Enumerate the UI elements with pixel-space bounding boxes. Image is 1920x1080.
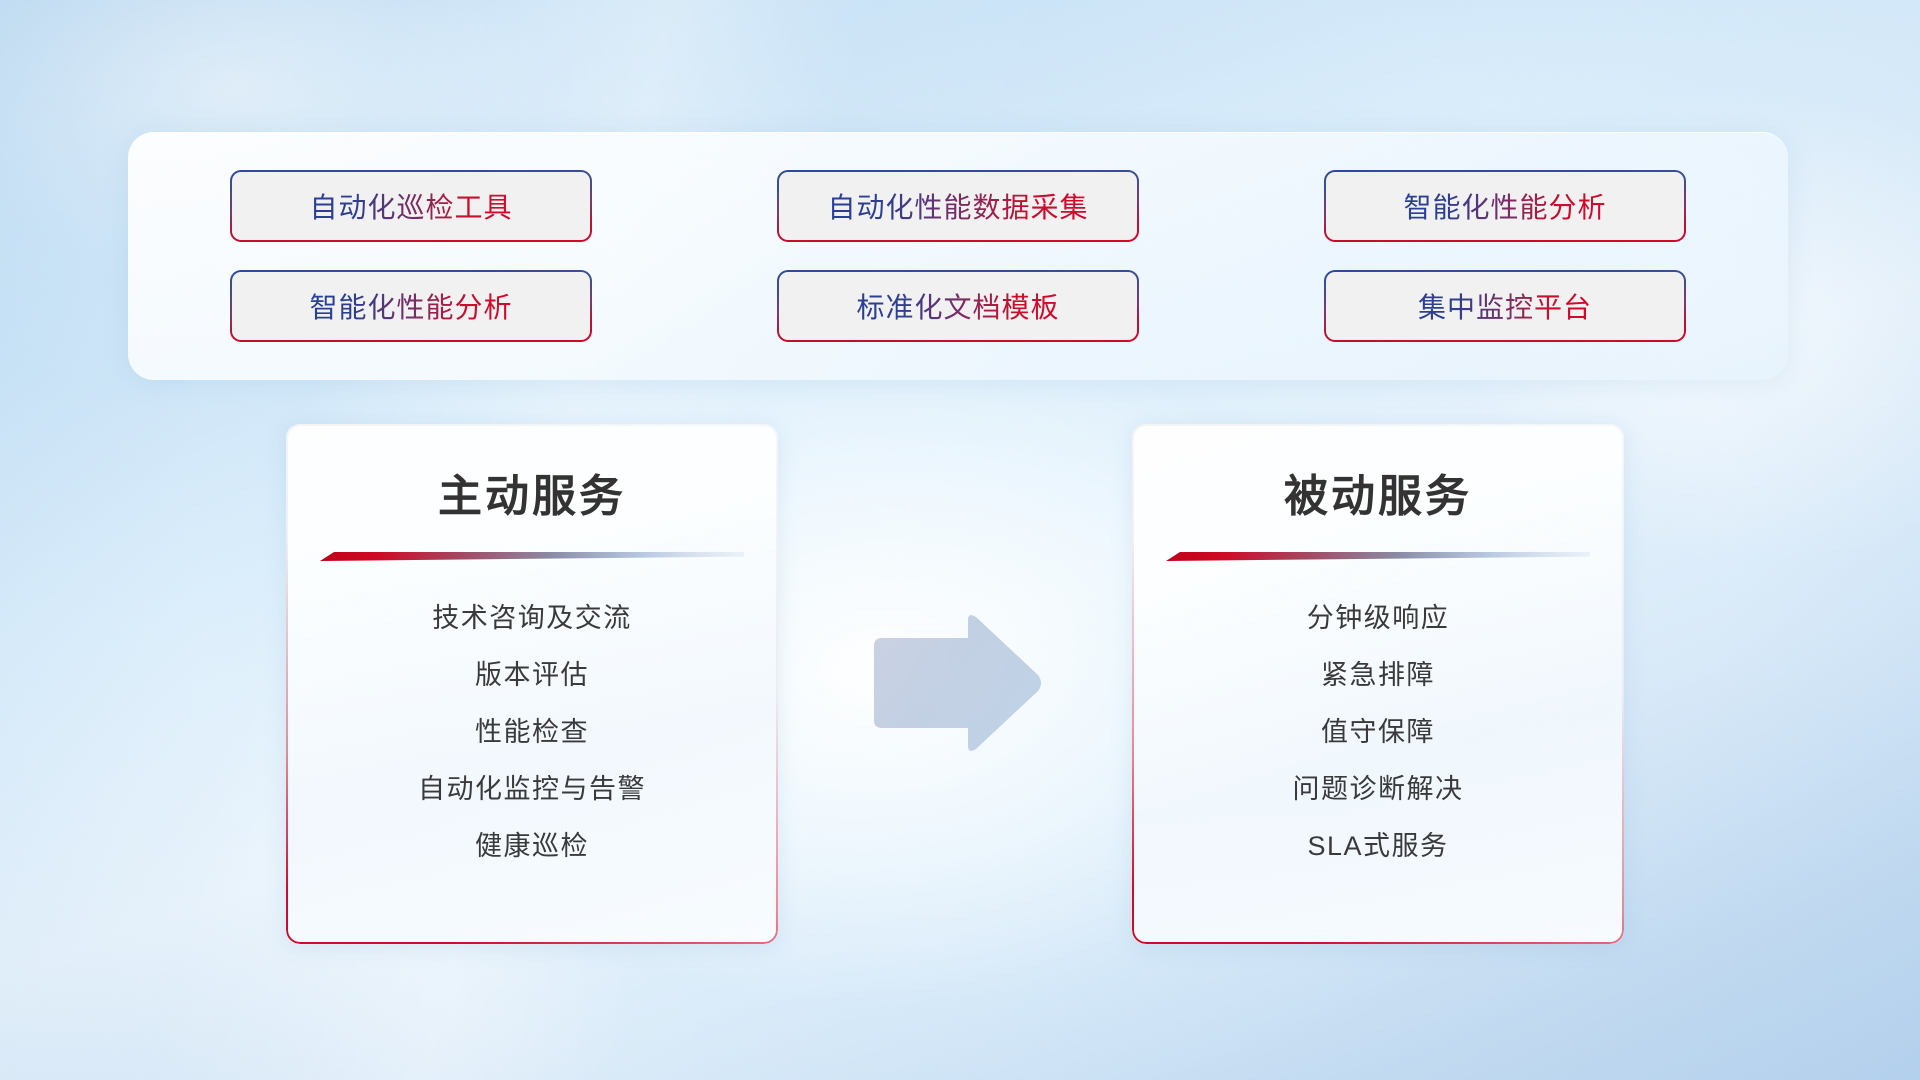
list-item[interactable]: 紧急排障 xyxy=(1132,647,1624,704)
capability-chip-intelligent-perf-analysis-1[interactable]: 智能化性能分析 xyxy=(1326,172,1684,240)
service-card-proactive[interactable]: 主动服务 技术咨询及交流 版本评估 性能检查 xyxy=(286,424,778,944)
card-title-proactive: 主动服务 xyxy=(286,460,778,524)
capability-chip-standard-doc-template[interactable]: 标准化文档模板 xyxy=(779,272,1137,340)
service-card-reactive[interactable]: 被动服务 分钟级响应 紧急排障 值守保障 xyxy=(1132,424,1624,944)
right-arrow-icon xyxy=(868,612,1044,754)
capability-panel: 自动化巡检工具 自动化性能数据采集 智能化性能分析 智能化性能分析 标准化文档模… xyxy=(128,132,1788,380)
list-item[interactable]: 分钟级响应 xyxy=(1132,590,1624,647)
service-list-reactive: 分钟级响应 紧急排障 值守保障 问题诊断解决 SLA式服务 xyxy=(1132,590,1624,875)
list-item[interactable]: 健康巡检 xyxy=(286,818,778,875)
card-divider-proactive xyxy=(320,550,744,562)
card-title-reactive: 被动服务 xyxy=(1132,460,1624,524)
capability-chip-central-monitoring-platform[interactable]: 集中监控平台 xyxy=(1326,272,1684,340)
capability-chip-label: 集中监控平台 xyxy=(1418,286,1592,326)
service-list-proactive: 技术咨询及交流 版本评估 性能检查 自动化监控与告警 健康巡检 xyxy=(286,590,778,875)
list-item[interactable]: 技术咨询及交流 xyxy=(286,590,778,647)
card-divider-reactive xyxy=(1166,550,1590,562)
slide-canvas: 自动化巡检工具 自动化性能数据采集 智能化性能分析 智能化性能分析 标准化文档模… xyxy=(0,0,1920,1080)
list-item[interactable]: 问题诊断解决 xyxy=(1132,761,1624,818)
list-item[interactable]: 自动化监控与告警 xyxy=(286,761,778,818)
capability-chip-automated-perf-data-collection[interactable]: 自动化性能数据采集 xyxy=(779,172,1137,240)
list-item[interactable]: 性能检查 xyxy=(286,704,778,761)
capability-chip-label: 智能化性能分析 xyxy=(1403,186,1606,226)
list-item[interactable]: 版本评估 xyxy=(286,647,778,704)
capability-row-2: 智能化性能分析 标准化文档模板 集中监控平台 xyxy=(232,272,1684,340)
capability-chip-label: 标准化文档模板 xyxy=(856,286,1059,326)
capability-row-1: 自动化巡检工具 自动化性能数据采集 智能化性能分析 xyxy=(232,172,1684,240)
capability-chip-automated-inspection-tool[interactable]: 自动化巡检工具 xyxy=(232,172,590,240)
capability-chip-intelligent-perf-analysis-2[interactable]: 智能化性能分析 xyxy=(232,272,590,340)
capability-chip-label: 自动化巡检工具 xyxy=(309,186,512,226)
list-item[interactable]: SLA式服务 xyxy=(1132,818,1624,875)
list-item[interactable]: 值守保障 xyxy=(1132,704,1624,761)
capability-chip-label: 智能化性能分析 xyxy=(309,286,512,326)
capability-chip-label: 自动化性能数据采集 xyxy=(827,186,1088,226)
